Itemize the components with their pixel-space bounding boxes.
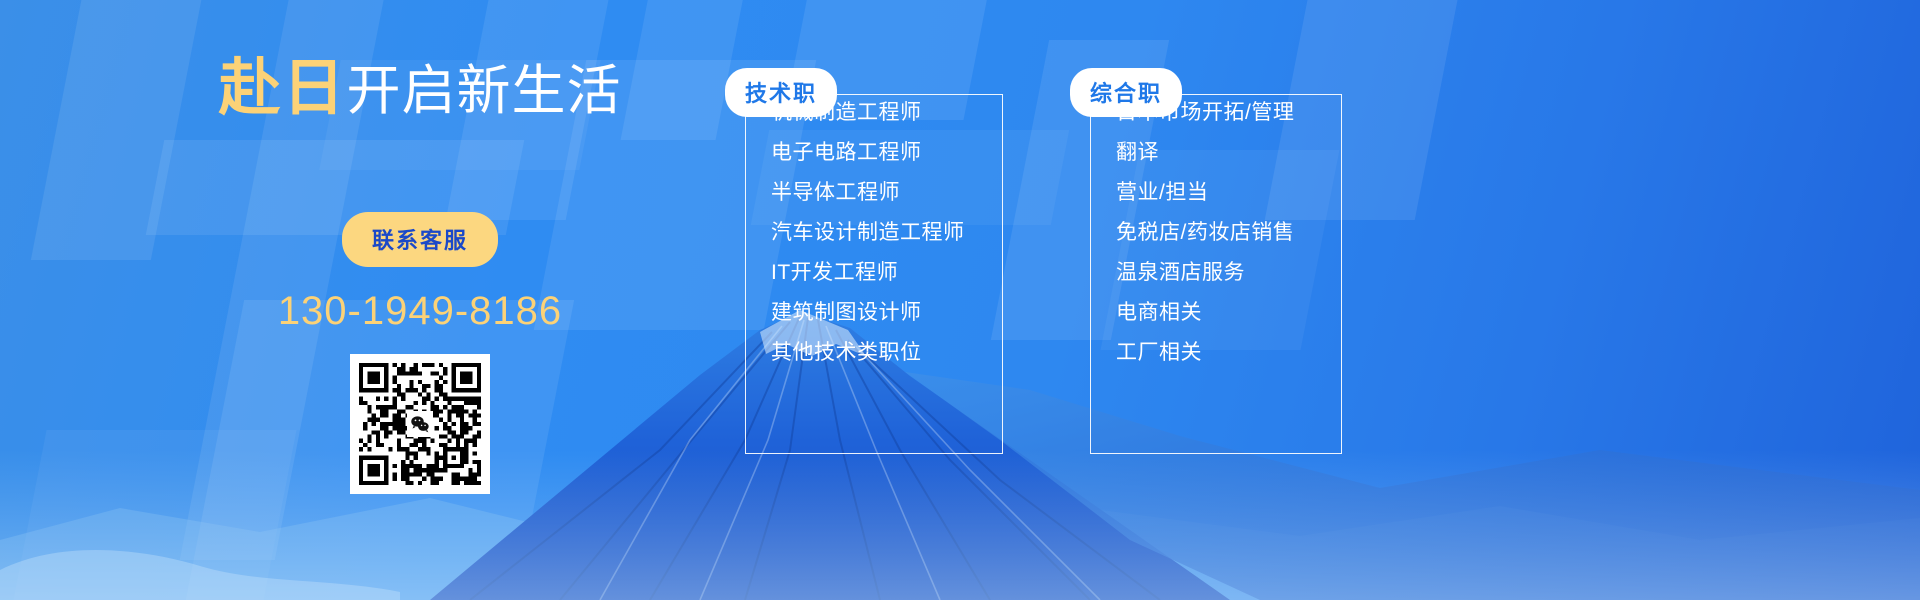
- list-item[interactable]: 其他技术类职位: [771, 342, 1003, 363]
- list-item[interactable]: 建筑制图设计师: [771, 302, 1003, 323]
- list-item[interactable]: 营业/担当: [1116, 182, 1342, 203]
- contact-block: 赴日开启新生活 联系客服 130-1949-8186: [150, 30, 690, 500]
- recruitment-banner: 赴日开启新生活 联系客服 130-1949-8186 技: [0, 0, 1920, 600]
- badge-tech[interactable]: 技术职: [725, 68, 837, 117]
- list-item[interactable]: IT开发工程师: [771, 262, 1003, 283]
- headline-highlight: 赴日: [218, 54, 346, 123]
- job-category-general: 综合职 日本市场开拓/管理 翻译 营业/担当 免税店/药妆店销售 温泉酒店服务 …: [1090, 68, 1342, 382]
- list-item[interactable]: 免税店/药妆店销售: [1116, 222, 1342, 243]
- list-item[interactable]: 电子电路工程师: [771, 142, 1003, 163]
- badge-general[interactable]: 综合职: [1070, 68, 1182, 117]
- list-item[interactable]: 工厂相关: [1116, 342, 1342, 363]
- page-title: 赴日开启新生活: [150, 58, 690, 120]
- phone-number: 130-1949-8186: [150, 289, 690, 334]
- contact-support-button[interactable]: 联系客服: [342, 212, 498, 267]
- list-item[interactable]: 汽车设计制造工程师: [771, 222, 1003, 243]
- wechat-icon: [407, 411, 433, 437]
- list-item[interactable]: 半导体工程师: [771, 182, 1003, 203]
- wechat-qr-code[interactable]: [350, 354, 490, 494]
- headline-rest: 开启新生活: [347, 61, 622, 121]
- list-item[interactable]: 翻译: [1116, 142, 1342, 163]
- job-category-tech: 技术职 机械制造工程师 电子电路工程师 半导体工程师 汽车设计制造工程师 IT开…: [745, 68, 1003, 382]
- list-item[interactable]: 温泉酒店服务: [1116, 262, 1342, 283]
- list-item[interactable]: 电商相关: [1116, 302, 1342, 323]
